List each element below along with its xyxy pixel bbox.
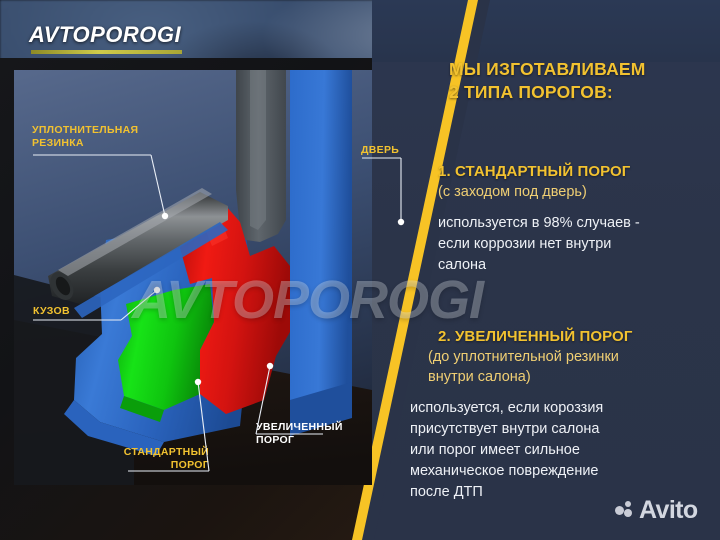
avito-logo: Avito xyxy=(615,498,698,523)
type-2-subtitle-line-2: внутри салона) xyxy=(400,368,700,387)
type-2-block: 2. УВЕЛИЧЕННЫЙ ПОРОГ (до уплотнительной … xyxy=(400,327,700,503)
door-metal-skirt-highlight xyxy=(250,70,266,230)
label-door: ДВЕРЬ xyxy=(361,144,399,157)
label-seal-line1: УПЛОТНИТЕЛЬНАЯ xyxy=(32,124,138,137)
type-1-body-line-3: салона xyxy=(438,255,716,276)
label-door-line1: ДВЕРЬ xyxy=(361,144,399,157)
standard-sill-green xyxy=(118,284,214,410)
label-enlarged-line2: ПОРОГ xyxy=(256,434,343,447)
label-seal: УПЛОТНИТЕЛЬНАЯ РЕЗИНКА xyxy=(32,124,138,150)
heading-line-1: МЫ ИЗГОТАВЛИВАЕМ xyxy=(449,58,707,81)
type-1-subtitle: (с заходом под дверь) xyxy=(438,183,716,202)
label-enlarged-line1: УВЕЛИЧЕННЫЙ xyxy=(256,421,343,434)
background-right-header-strip xyxy=(372,0,720,62)
label-standard-line1: СТАНДАРТНЫЙ xyxy=(93,446,209,459)
infographic-canvas: AVTOPOROGI xyxy=(0,0,720,540)
label-standard: СТАНДАРТНЫЙ ПОРОГ xyxy=(93,446,209,472)
door-panel xyxy=(290,70,352,400)
avito-wordmark: Avito xyxy=(639,498,698,523)
type-1-title: 1. СТАНДАРТНЫЙ ПОРОГ xyxy=(438,162,716,182)
type-1-body: используется в 98% случаев - если корроз… xyxy=(438,213,716,276)
heading-line-2: 2 ТИПА ПОРОГОВ: xyxy=(449,81,707,104)
type-2-body-line-4: механическое повреждение xyxy=(410,461,700,482)
type-2-body-line-1: используется, если короззия xyxy=(410,398,700,419)
label-standard-line2: ПОРОГ xyxy=(93,459,209,472)
type-2-subtitle-line-1: (до уплотнительной резинки xyxy=(400,348,700,367)
type-1-body-line-2: если коррозии нет внутри xyxy=(438,234,716,255)
type-2-body: используется, если короззия присутствует… xyxy=(400,398,700,503)
label-enlarged: УВЕЛИЧЕННЫЙ ПОРОГ xyxy=(256,421,343,447)
type-2-body-line-2: присутствует внутри салона xyxy=(410,419,700,440)
label-seal-line2: РЕЗИНКА xyxy=(32,137,138,150)
brand-logo: AVTOPOROGI xyxy=(29,22,182,54)
type-1-block: 1. СТАНДАРТНЫЙ ПОРОГ (с заходом под двер… xyxy=(438,162,716,276)
type-2-body-line-3: или порог имеет сильное xyxy=(410,440,700,461)
type-1-body-line-1: используется в 98% случаев - xyxy=(438,213,716,234)
label-body: КУЗОВ xyxy=(33,305,70,318)
label-body-line1: КУЗОВ xyxy=(33,305,70,318)
avito-dots-icon xyxy=(615,501,635,520)
type-2-title: 2. УВЕЛИЧЕННЫЙ ПОРОГ xyxy=(400,327,700,347)
brand-logo-text: AVTOPOROGI xyxy=(29,22,182,48)
brand-logo-underline xyxy=(31,50,182,54)
right-heading: МЫ ИЗГОТАВЛИВАЕМ 2 ТИПА ПОРОГОВ: xyxy=(449,58,707,104)
